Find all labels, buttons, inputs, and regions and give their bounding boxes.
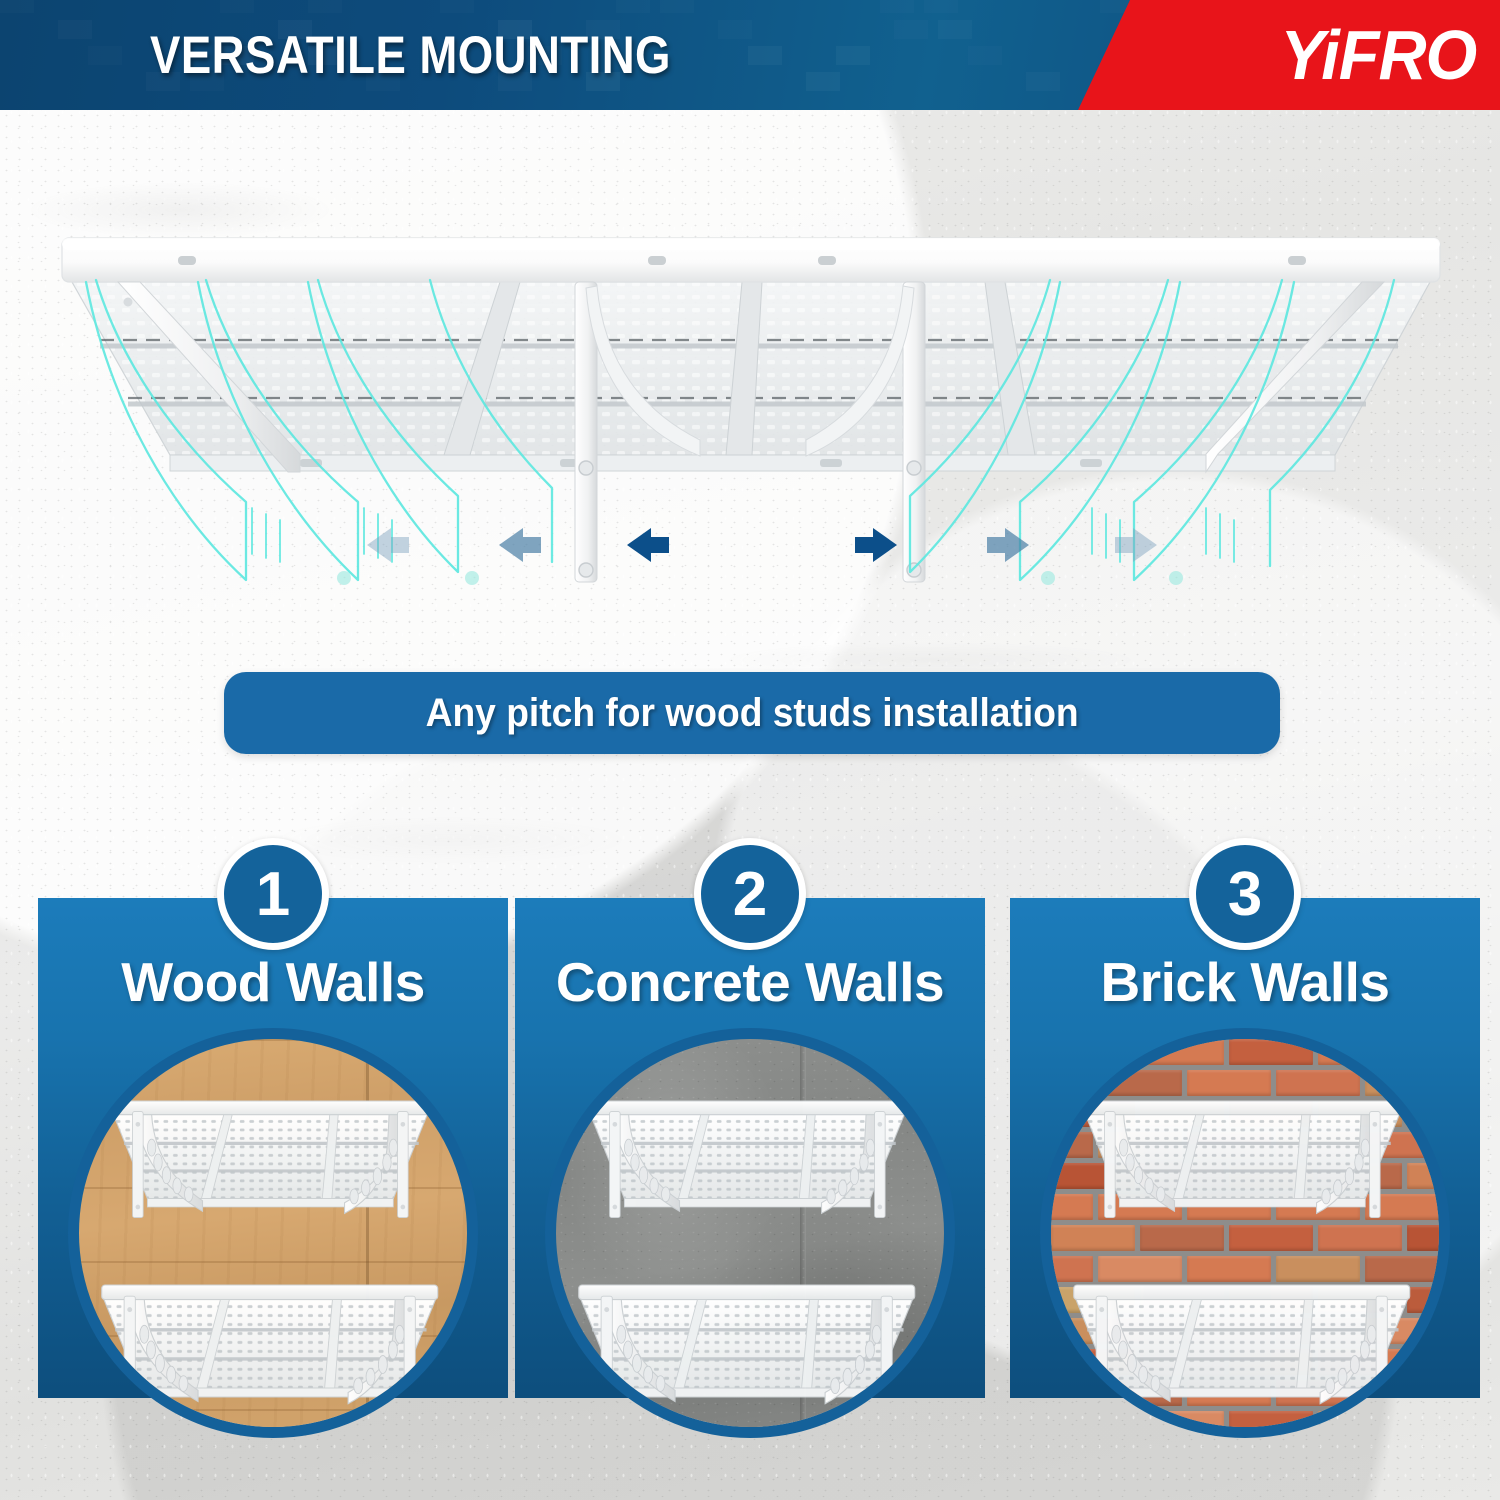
card-wood-walls[interactable]: 1 Wood Walls — [38, 898, 508, 1398]
feature-banner: Any pitch for wood studs installation — [224, 672, 1280, 754]
direction-arrow-left — [627, 528, 669, 562]
card-number-badge: 2 — [694, 838, 806, 950]
shelf-render-wood — [79, 1039, 467, 1427]
card-number-badge: 3 — [1189, 838, 1301, 950]
feature-banner-text: Any pitch for wood studs installation — [425, 691, 1078, 736]
card-title: Brick Walls — [1010, 950, 1480, 1014]
direction-arrow-right — [1115, 528, 1157, 562]
card-title: Wood Walls — [38, 950, 508, 1014]
shelf-render-brick — [1051, 1039, 1439, 1427]
card-title: Concrete Walls — [515, 950, 985, 1014]
card-photo-brick — [1040, 1028, 1450, 1438]
brand-logo: YiFRO — [1280, 0, 1476, 110]
direction-arrow-right — [987, 528, 1029, 562]
hero-shelf-illustration — [0, 110, 1500, 650]
page-title: VERSATILE MOUNTING — [150, 0, 671, 110]
card-number-badge: 1 — [217, 838, 329, 950]
shelf-render-concrete — [556, 1039, 944, 1427]
header-bar: VERSATILE MOUNTING YiFRO — [0, 0, 1500, 110]
direction-arrow-left — [367, 528, 409, 562]
infographic-page: VERSATILE MOUNTING YiFRO — [0, 0, 1500, 1500]
card-photo-wood — [68, 1028, 478, 1438]
card-concrete-walls[interactable]: 2 Concrete Walls — [515, 898, 985, 1398]
wall-type-cards: 1 Wood Walls 2 Concrete Walls — [0, 898, 1500, 1418]
card-photo-concrete — [545, 1028, 955, 1438]
direction-arrow-right — [855, 528, 897, 562]
direction-arrow-left — [499, 528, 541, 562]
card-brick-walls[interactable]: 3 Brick Walls — [1010, 898, 1480, 1398]
